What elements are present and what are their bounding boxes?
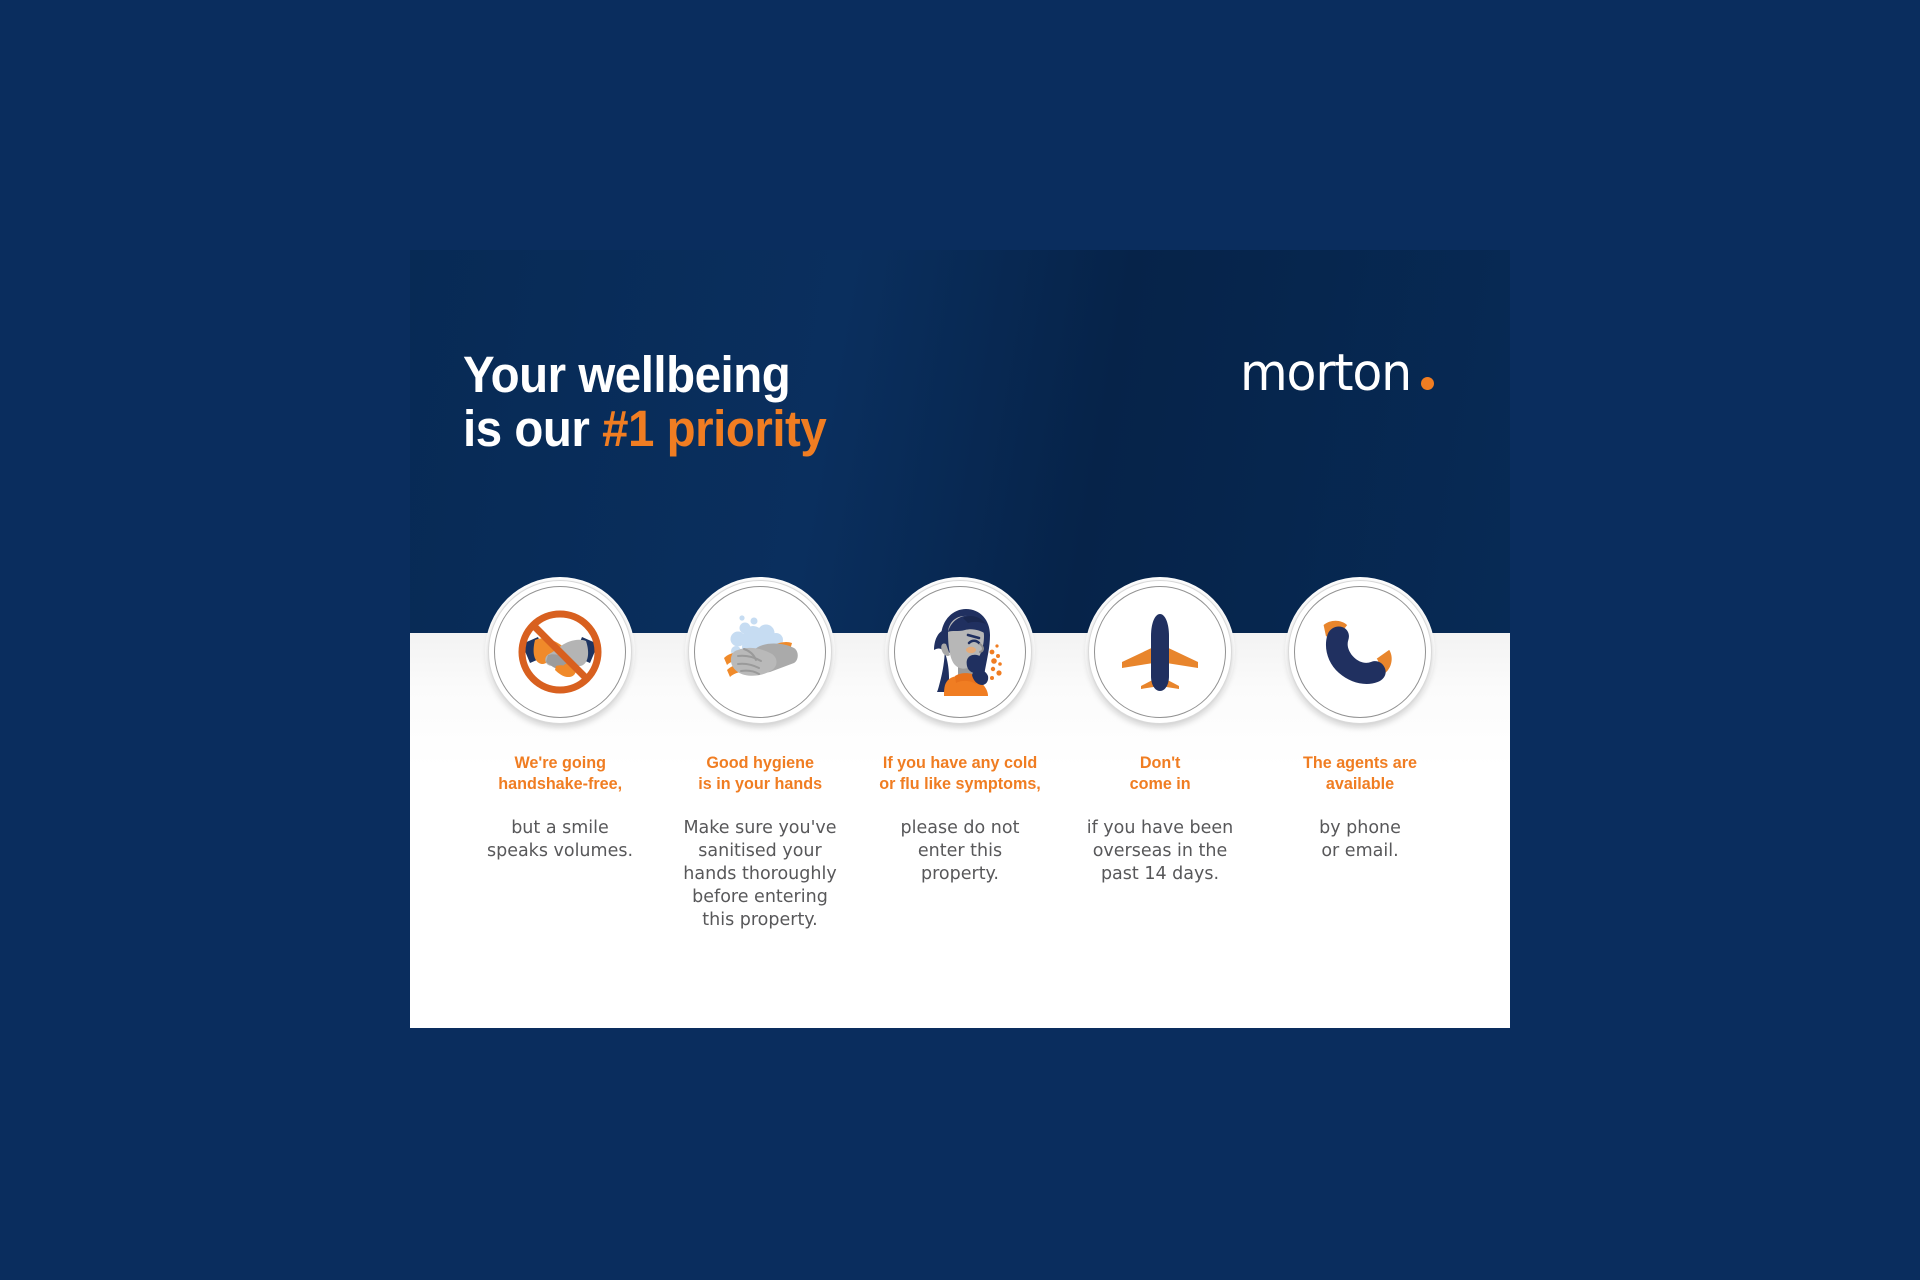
telephone-icon — [1308, 600, 1412, 704]
advice-card-heading: We're going handshake-free, — [498, 752, 622, 795]
icon-badge — [488, 580, 632, 724]
washing-hands-icon — [708, 600, 812, 704]
advice-card-heading: If you have any cold or flu like symptom… — [879, 752, 1041, 795]
advice-card: Good hygiene is in your hands Make sure … — [660, 580, 860, 932]
icon-badge — [688, 580, 832, 724]
advice-card: The agents are available by phone or ema… — [1260, 580, 1460, 863]
page-title: Your wellbeing is our #1 priority — [463, 348, 854, 456]
coughing-person-icon — [908, 600, 1012, 704]
advice-card-body: if you have been overseas in the past 14… — [1087, 817, 1234, 886]
icon-badge — [888, 580, 1032, 724]
icon-badge — [1288, 580, 1432, 724]
advice-card-body: by phone or email. — [1319, 817, 1401, 863]
brand-logo-dot — [1421, 377, 1434, 390]
advice-card: We're going handshake-free, but a smile … — [460, 580, 660, 863]
poster-canvas: Your wellbeing is our #1 priority morton — [0, 0, 1920, 1280]
icon-badge — [1088, 580, 1232, 724]
brand-logo: morton — [1240, 344, 1434, 403]
advice-card-body: but a smile speaks volumes. — [487, 817, 633, 863]
brand-logo-wordmark: morton — [1240, 344, 1411, 403]
advice-card-heading: Good hygiene is in your hands — [698, 752, 822, 795]
headline-plain: is our — [463, 400, 602, 457]
advice-card: If you have any cold or flu like symptom… — [860, 580, 1060, 886]
headline-line-1: Your wellbeing — [463, 348, 826, 402]
advice-card-body: Make sure you've sanitised your hands th… — [683, 817, 836, 932]
advice-card-row: We're going handshake-free, but a smile … — [460, 580, 1460, 932]
headline-accent: #1 priority — [602, 400, 826, 457]
airplane-icon — [1108, 600, 1212, 704]
headline-line-2: is our #1 priority — [463, 402, 826, 456]
advice-card-heading: Don't come in — [1129, 752, 1190, 795]
no-handshake-icon — [508, 600, 612, 704]
advice-card-body: please do not enter this property. — [901, 817, 1020, 886]
advice-card: Don't come in if you have been overseas … — [1060, 580, 1260, 886]
advice-card-heading: The agents are available — [1303, 752, 1417, 795]
